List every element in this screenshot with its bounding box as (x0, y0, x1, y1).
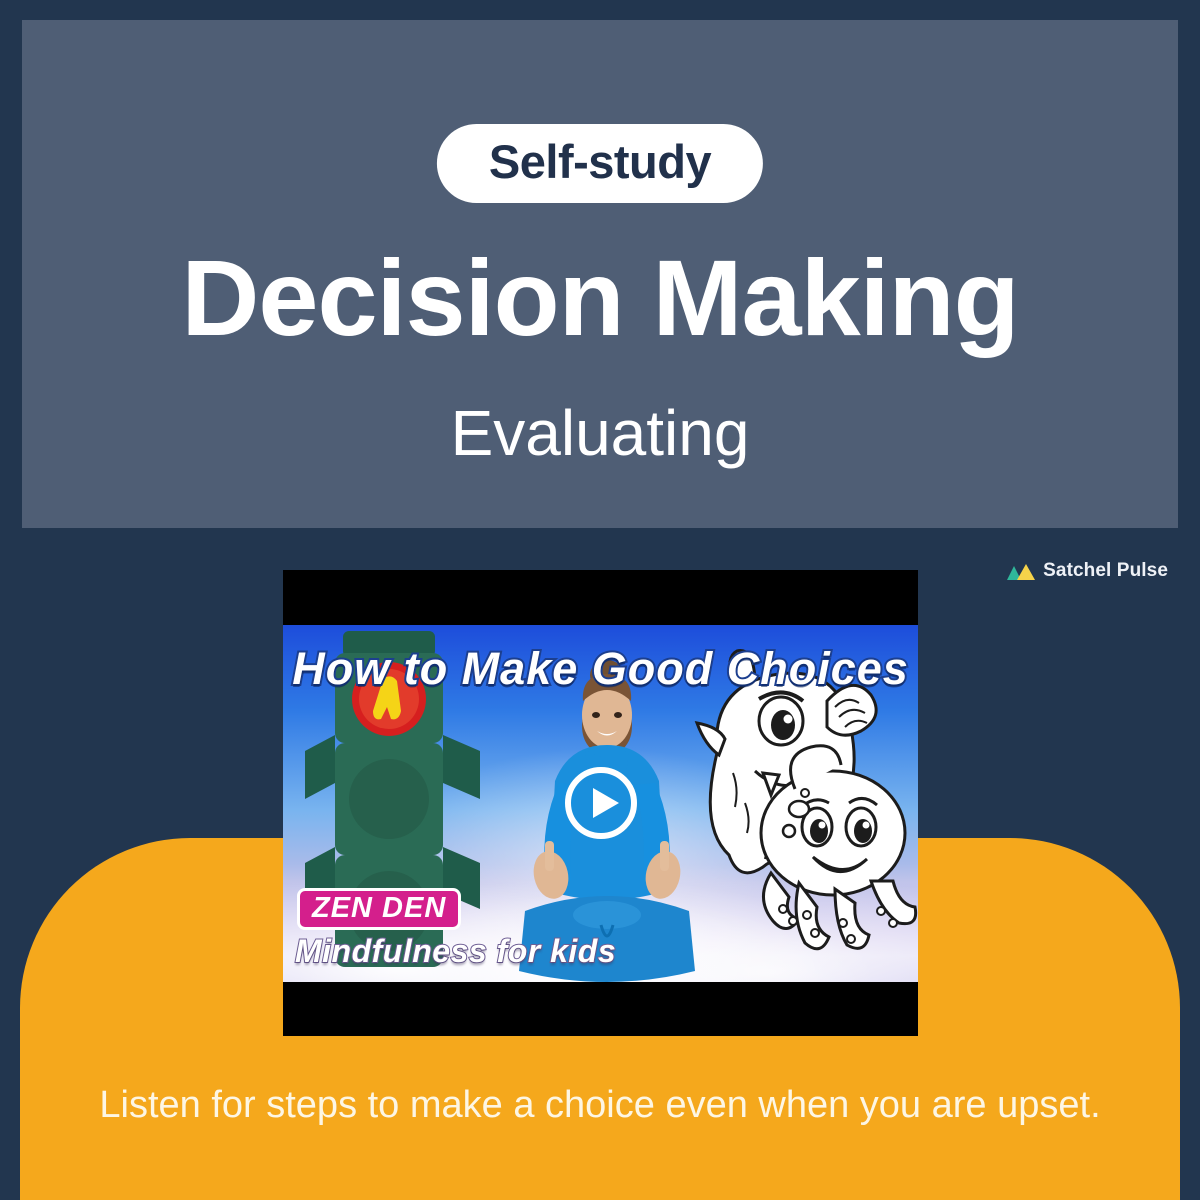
self-study-badge[interactable]: Self-study (437, 124, 763, 203)
slide-caption: Listen for steps to make a choice even w… (0, 1082, 1200, 1130)
slide-canvas: Self-study Decision Making Evaluating Sa… (0, 0, 1200, 1200)
brand-logo: Satchel Pulse (1006, 560, 1168, 582)
page-title: Decision Making (22, 238, 1178, 359)
page-subtitle: Evaluating (22, 395, 1178, 472)
video-player-card[interactable]: How to Make Good Choices ZEN DEN Mindful… (283, 570, 918, 1036)
mountains-icon (1006, 561, 1036, 581)
brand-name: Satchel Pulse (1043, 560, 1168, 582)
header-panel: Self-study Decision Making Evaluating (22, 20, 1178, 528)
zen-den-tagline: Mindfulness for kids (295, 933, 616, 970)
self-study-badge-label: Self-study (489, 138, 711, 185)
zen-den-badge: ZEN DEN (297, 888, 461, 930)
play-icon[interactable] (563, 765, 639, 841)
zen-den-badge-label: ZEN DEN (312, 892, 446, 924)
video-title-art: How to Make Good Choices (283, 643, 918, 695)
